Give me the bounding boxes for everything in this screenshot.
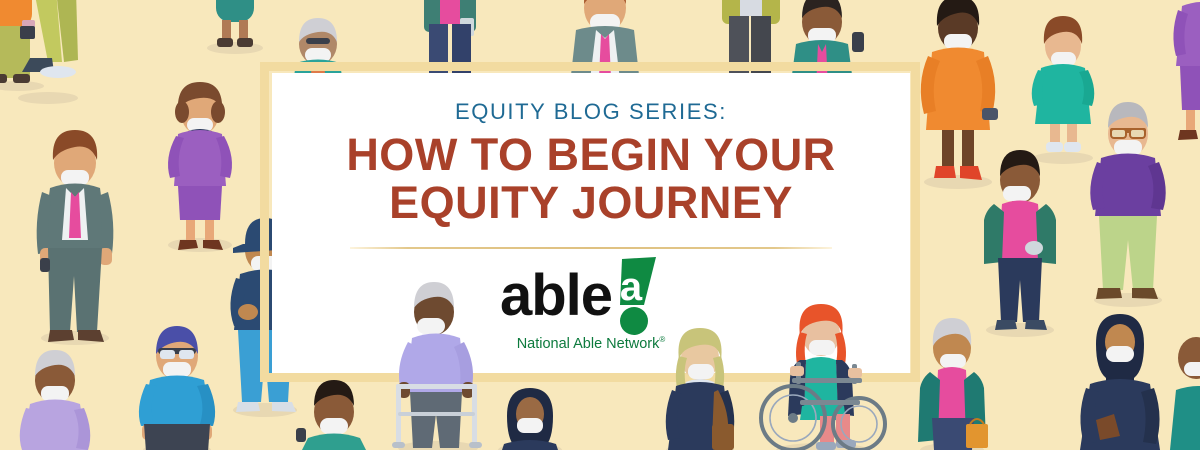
equity-blog-banner: EQUITY BLOG SERIES: HOW TO BEGIN YOUR EQ…	[0, 0, 1200, 450]
card-content: EQUITY BLOG SERIES: HOW TO BEGIN YOUR EQ…	[272, 73, 910, 373]
page-title: HOW TO BEGIN YOUR EQUITY JOURNEY	[272, 131, 910, 227]
headline-line-1: HOW TO BEGIN YOUR	[346, 129, 835, 180]
able-network-logo: able a National Able Network®	[476, 265, 706, 357]
logo-tagline: National Able Network®	[476, 335, 706, 352]
registered-mark: ®	[659, 335, 665, 344]
logo-tagline-text: National Able Network	[517, 336, 660, 352]
logo-wordmark: able	[500, 267, 612, 325]
headline-line-2: EQUITY JOURNEY	[389, 177, 793, 228]
logo-exclamation-mark-icon: a	[604, 257, 664, 339]
blog-series-kicker: EQUITY BLOG SERIES:	[272, 73, 910, 125]
svg-text:a: a	[620, 265, 643, 309]
title-divider	[350, 247, 832, 249]
